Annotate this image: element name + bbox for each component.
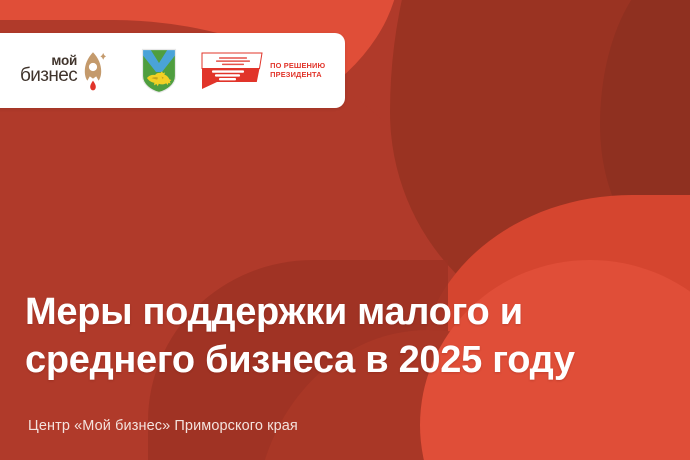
national-projects-wordmark: ПО РЕШЕНИЮ ПРЕЗИДЕНТА <box>270 62 325 79</box>
logo-moy-biznes-word-bottom: бизнес <box>20 67 77 85</box>
rocket-icon <box>80 50 106 92</box>
logo-moy-biznes-wordmark: мой бизнес <box>20 55 77 85</box>
page-title: Меры поддержки малого и среднего бизнеса… <box>25 288 665 385</box>
page-title-line-2: среднего бизнеса в 2025 году <box>25 336 665 384</box>
national-projects-line-2: ПРЕЗИДЕНТА <box>270 71 325 80</box>
logo-moy-biznes: мой бизнес <box>20 50 106 92</box>
page-subtitle: Центр «Мой бизнес» Приморского края <box>28 418 298 434</box>
page-title-line-1: Меры поддержки малого и <box>25 291 523 333</box>
logo-card: мой бизнес <box>0 33 345 108</box>
presentation-slide: мой бизнес <box>0 0 690 460</box>
logo-national-projects: ПО РЕШЕНИЮ ПРЕЗИДЕНТА <box>201 52 325 90</box>
national-projects-flag-icon <box>201 52 263 90</box>
coat-of-arms-icon <box>141 48 177 94</box>
